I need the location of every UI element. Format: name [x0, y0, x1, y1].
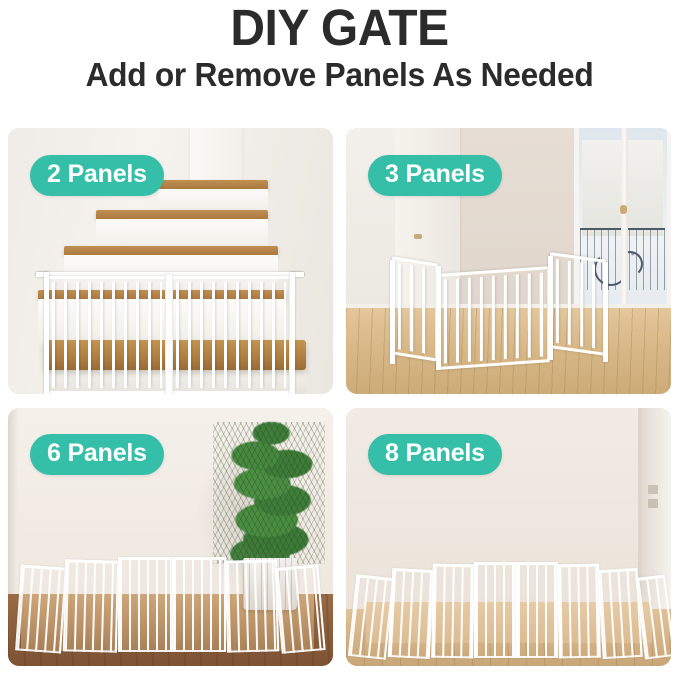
baby-gate-2-panel	[36, 270, 304, 394]
gate-panel	[438, 266, 550, 370]
gate-panel	[557, 564, 601, 659]
gate-post	[166, 274, 172, 394]
gate-panel	[431, 564, 475, 659]
gate-panel	[46, 276, 168, 394]
gate-post	[548, 256, 553, 360]
gate-panel	[274, 564, 325, 654]
panel-options-grid: 2 Panels	[8, 128, 671, 666]
plant-needles	[213, 422, 325, 564]
door-hinge	[648, 485, 658, 494]
panel-option-card-3[interactable]: 3 Panels	[346, 128, 671, 394]
baby-gate-8-panel	[352, 552, 670, 658]
gate-panel	[516, 562, 558, 658]
page-title: DIY GATE	[20, 2, 658, 54]
gate-panel	[15, 565, 67, 654]
door-knob	[414, 234, 422, 239]
panel-option-card-8[interactable]: 8 Panels	[346, 408, 671, 666]
gate-post	[290, 272, 295, 394]
gate-panel	[63, 559, 119, 652]
header: DIY GATE Add or Remove Panels As Needed	[0, 0, 679, 95]
gate-panel	[550, 252, 606, 356]
gate-panel	[118, 557, 172, 652]
gate-post	[436, 266, 441, 370]
baby-gate-3-panel	[388, 256, 610, 368]
gate-panel	[388, 568, 435, 659]
gate-panel	[172, 557, 226, 652]
baby-gate-6-panel	[18, 552, 318, 652]
panel-count-badge-8: 8 Panels	[368, 434, 502, 475]
panel-count-badge-6: 6 Panels	[30, 434, 164, 475]
gate-panel	[474, 562, 516, 658]
gate-panel	[225, 559, 279, 652]
page-subtitle: Add or Remove Panels As Needed	[14, 55, 666, 95]
panel-option-card-6[interactable]: 6 Panels	[8, 408, 333, 666]
gate-post	[44, 272, 49, 394]
infographic-page: DIY GATE Add or Remove Panels As Needed	[0, 0, 679, 674]
gate-panel	[392, 256, 438, 361]
gate-post	[603, 262, 608, 362]
panel-count-badge-3: 3 Panels	[368, 155, 502, 196]
window-latch	[620, 205, 627, 214]
gate-panel	[170, 276, 292, 394]
gate-post	[390, 260, 395, 364]
panel-count-badge-2: 2 Panels	[30, 155, 164, 196]
panel-option-card-2[interactable]: 2 Panels	[8, 128, 333, 394]
